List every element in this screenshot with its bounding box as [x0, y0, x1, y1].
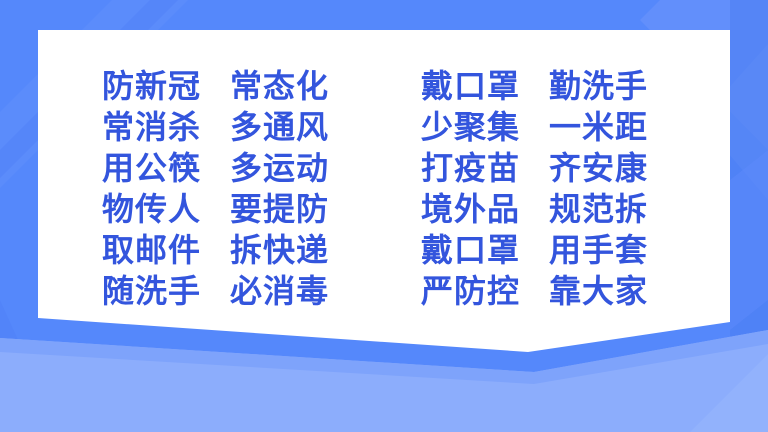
slogan-phrase: 取邮件 — [102, 232, 218, 268]
slogan-column-right: 少聚集 一米距 — [421, 109, 666, 145]
slogan-phrase: 规范拆 — [549, 191, 665, 227]
slogan-column-left: 防新冠 常态化 — [102, 68, 347, 104]
slogan-phrase: 要提防 — [230, 191, 346, 227]
slogan-phrase: 物传人 — [102, 191, 218, 227]
slogan-column-left: 取邮件 拆快递 — [102, 232, 347, 268]
slogan-column-right: 严防控 靠大家 — [421, 273, 666, 309]
slogan-phrase: 常消杀 — [102, 109, 218, 145]
slogan-row: 取邮件 拆快递 戴口罩 用手套 — [38, 229, 730, 270]
slogan-column-left: 用公筷 多运动 — [102, 150, 347, 186]
slogan-row: 常消杀 多通风 少聚集 一米距 — [38, 106, 730, 147]
slogan-column-left: 随洗手 必消毒 — [102, 273, 347, 309]
slogan-phrase: 严防控 — [421, 273, 537, 309]
slogan-phrase: 多通风 — [230, 109, 346, 145]
slogan-column-right: 戴口罩 勤洗手 — [421, 68, 666, 104]
slogan-phrase: 境外品 — [421, 191, 537, 227]
poster-canvas: 防新冠 常态化 戴口罩 勤洗手 常消杀 多通风 少聚集 一米距 用公筷 多运动 — [0, 0, 768, 432]
slogan-row: 随洗手 必消毒 严防控 靠大家 — [38, 270, 730, 311]
slogan-phrase: 常态化 — [230, 68, 346, 104]
slogan-column-right: 戴口罩 用手套 — [421, 232, 666, 268]
slogan-row: 用公筷 多运动 打疫苗 齐安康 — [38, 147, 730, 188]
slogan-phrase: 少聚集 — [421, 109, 537, 145]
slogan-phrase: 戴口罩 — [421, 68, 537, 104]
slogan-grid: 防新冠 常态化 戴口罩 勤洗手 常消杀 多通风 少聚集 一米距 用公筷 多运动 — [38, 30, 730, 320]
slogan-phrase: 必消毒 — [230, 273, 346, 309]
slogan-column-left: 常消杀 多通风 — [102, 109, 347, 145]
slogan-phrase: 齐安康 — [549, 150, 665, 186]
slogan-row: 防新冠 常态化 戴口罩 勤洗手 — [38, 65, 730, 106]
slogan-phrase: 防新冠 — [102, 68, 218, 104]
slogan-phrase: 戴口罩 — [421, 232, 537, 268]
slogan-phrase: 拆快递 — [230, 232, 346, 268]
slogan-column-left: 物传人 要提防 — [102, 191, 347, 227]
slogan-phrase: 多运动 — [230, 150, 346, 186]
slogan-column-right: 打疫苗 齐安康 — [421, 150, 666, 186]
slogan-phrase: 打疫苗 — [421, 150, 537, 186]
slogan-phrase: 一米距 — [549, 109, 665, 145]
slogan-row: 物传人 要提防 境外品 规范拆 — [38, 188, 730, 229]
slogan-phrase: 靠大家 — [549, 273, 665, 309]
slogan-phrase: 用公筷 — [102, 150, 218, 186]
slogan-column-right: 境外品 规范拆 — [421, 191, 666, 227]
slogan-phrase: 随洗手 — [102, 273, 218, 309]
slogan-phrase: 用手套 — [549, 232, 665, 268]
slogan-phrase: 勤洗手 — [549, 68, 665, 104]
